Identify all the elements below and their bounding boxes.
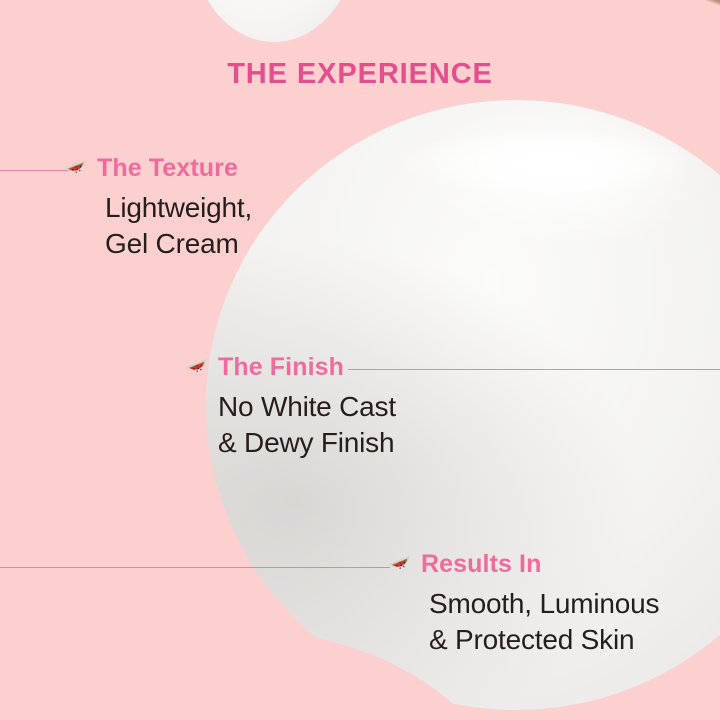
- annotation-heading: The Texture: [64, 156, 252, 181]
- watermelon-slice-icon: [185, 357, 211, 379]
- annotation-label: The Texture: [97, 156, 238, 181]
- annotation-body-line-2: Gel Cream: [105, 226, 252, 262]
- annotation-label: The Finish: [218, 355, 344, 380]
- annotation-body-line-2: & Protected Skin: [429, 622, 659, 658]
- annotation-heading: Results In: [388, 552, 659, 577]
- connector-line-results: [0, 567, 390, 568]
- page-title: THE EXPERIENCE: [0, 58, 720, 91]
- annotation-label: Results In: [421, 552, 541, 577]
- annotation-heading: The Finish: [185, 355, 396, 380]
- annotation-the-texture: The Texture Lightweight, Gel Cream: [64, 156, 252, 262]
- watermelon-slice-icon: [64, 158, 90, 180]
- watermelon-slice-icon: [388, 554, 414, 576]
- annotation-results-in: Results In Smooth, Luminous & Protected …: [388, 552, 659, 658]
- annotation-body: No White Cast & Dewy Finish: [218, 389, 396, 461]
- annotation-body-line-1: No White Cast: [218, 389, 396, 425]
- annotation-the-finish: The Finish No White Cast & Dewy Finish: [185, 355, 396, 461]
- annotation-body: Lightweight, Gel Cream: [105, 190, 252, 262]
- annotation-body: Smooth, Luminous & Protected Skin: [429, 586, 659, 658]
- annotation-body-line-1: Smooth, Luminous: [429, 586, 659, 622]
- connector-line-finish: [348, 369, 720, 370]
- connector-line-texture: [0, 170, 70, 171]
- annotation-body-line-1: Lightweight,: [105, 190, 252, 226]
- cream-blob-highlight: [400, 128, 690, 198]
- annotation-body-line-2: & Dewy Finish: [218, 425, 396, 461]
- cream-blob-top: [191, 0, 357, 42]
